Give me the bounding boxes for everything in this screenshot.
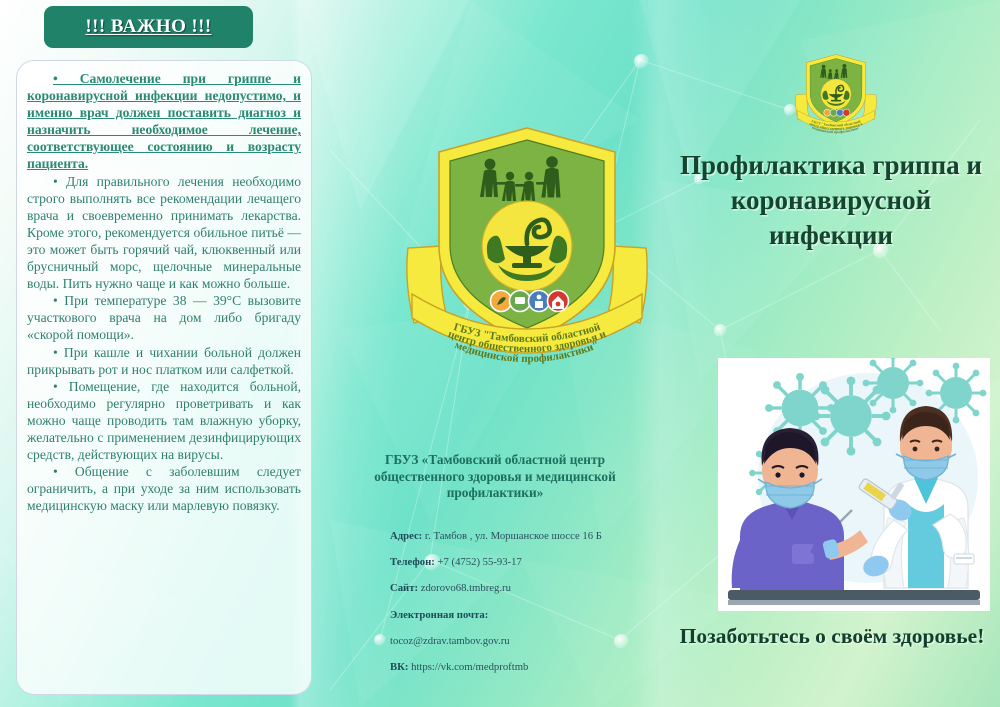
contact-row-website[interactable]: Сайт: zdorovo68.tmbreg.ru [390, 582, 670, 594]
page-title: Профилактика гриппа и коронавирусной инф… [672, 148, 990, 253]
contact-row-phone: Телефон: +7 (4752) 55-93-17 [390, 556, 670, 568]
contact-value: г. Тамбов , ул. Моршанское шоссе 16 Б [425, 530, 602, 542]
contact-label: Телефон: [390, 556, 435, 568]
contact-label: Адрес: [390, 530, 422, 542]
contact-list: Адрес: г. Тамбов , ул. Моршанское шоссе … [390, 530, 670, 687]
middle-panel: ГБУЗ "Тамбовский областной центр обществ… [330, 0, 660, 707]
contact-row-email[interactable]: tocoz@zdrav.tambov.gov.ru [390, 635, 670, 647]
advice-item: • При температуре 38 — 39°С вызовите уча… [27, 292, 301, 343]
contact-label: Электронная почта: [390, 609, 488, 621]
advice-item: • Общение с заболевшим следует ограничит… [27, 463, 301, 514]
advice-item: • При кашле и чихании больной должен при… [27, 344, 301, 378]
important-badge-label: !!! ВАЖНО !!! [85, 16, 211, 38]
important-badge: !!! ВАЖНО !!! [44, 6, 253, 48]
organization-crest: ГБУЗ "Тамбовский областной центр обществ… [402, 118, 652, 373]
slogan: Позаботьтесь о своём здоровье! [674, 622, 990, 651]
left-panel: !!! ВАЖНО !!! • Самолечение при гриппе и… [0, 0, 330, 707]
organization-crest-small: ГБУЗ "Тамбовский областной центр обществ… [794, 48, 878, 140]
contact-label: Сайт: [390, 582, 418, 594]
brochure-sheet: !!! ВАЖНО !!! • Самолечение при гриппе и… [0, 0, 1000, 707]
contact-label: ВК: [390, 661, 408, 673]
contact-row-email-label: Электронная почта: [390, 609, 670, 621]
contact-value[interactable]: tocoz@zdrav.tambov.gov.ru [390, 635, 510, 647]
contact-value[interactable]: https://vk.com/medproftmb [411, 661, 528, 673]
advice-item: • Для правильного лечения необходимо стр… [27, 173, 301, 293]
contact-value: +7 (4752) 55-93-17 [437, 556, 521, 568]
organization-name: ГБУЗ «Тамбовский областной центр обществ… [348, 452, 642, 502]
advice-card: • Самолечение при гриппе и коронавирусно… [16, 60, 312, 695]
advice-item: • Помещение, где находится больной, необ… [27, 378, 301, 463]
advice-item: • Самолечение при гриппе и коронавирусно… [27, 70, 301, 173]
contact-row-address: Адрес: г. Тамбов , ул. Моршанское шоссе … [390, 530, 670, 542]
contact-value[interactable]: zdorovo68.tmbreg.ru [421, 582, 511, 594]
contact-row-vk[interactable]: ВК: https://vk.com/medproftmb [390, 661, 670, 673]
vaccination-illustration [718, 358, 990, 611]
